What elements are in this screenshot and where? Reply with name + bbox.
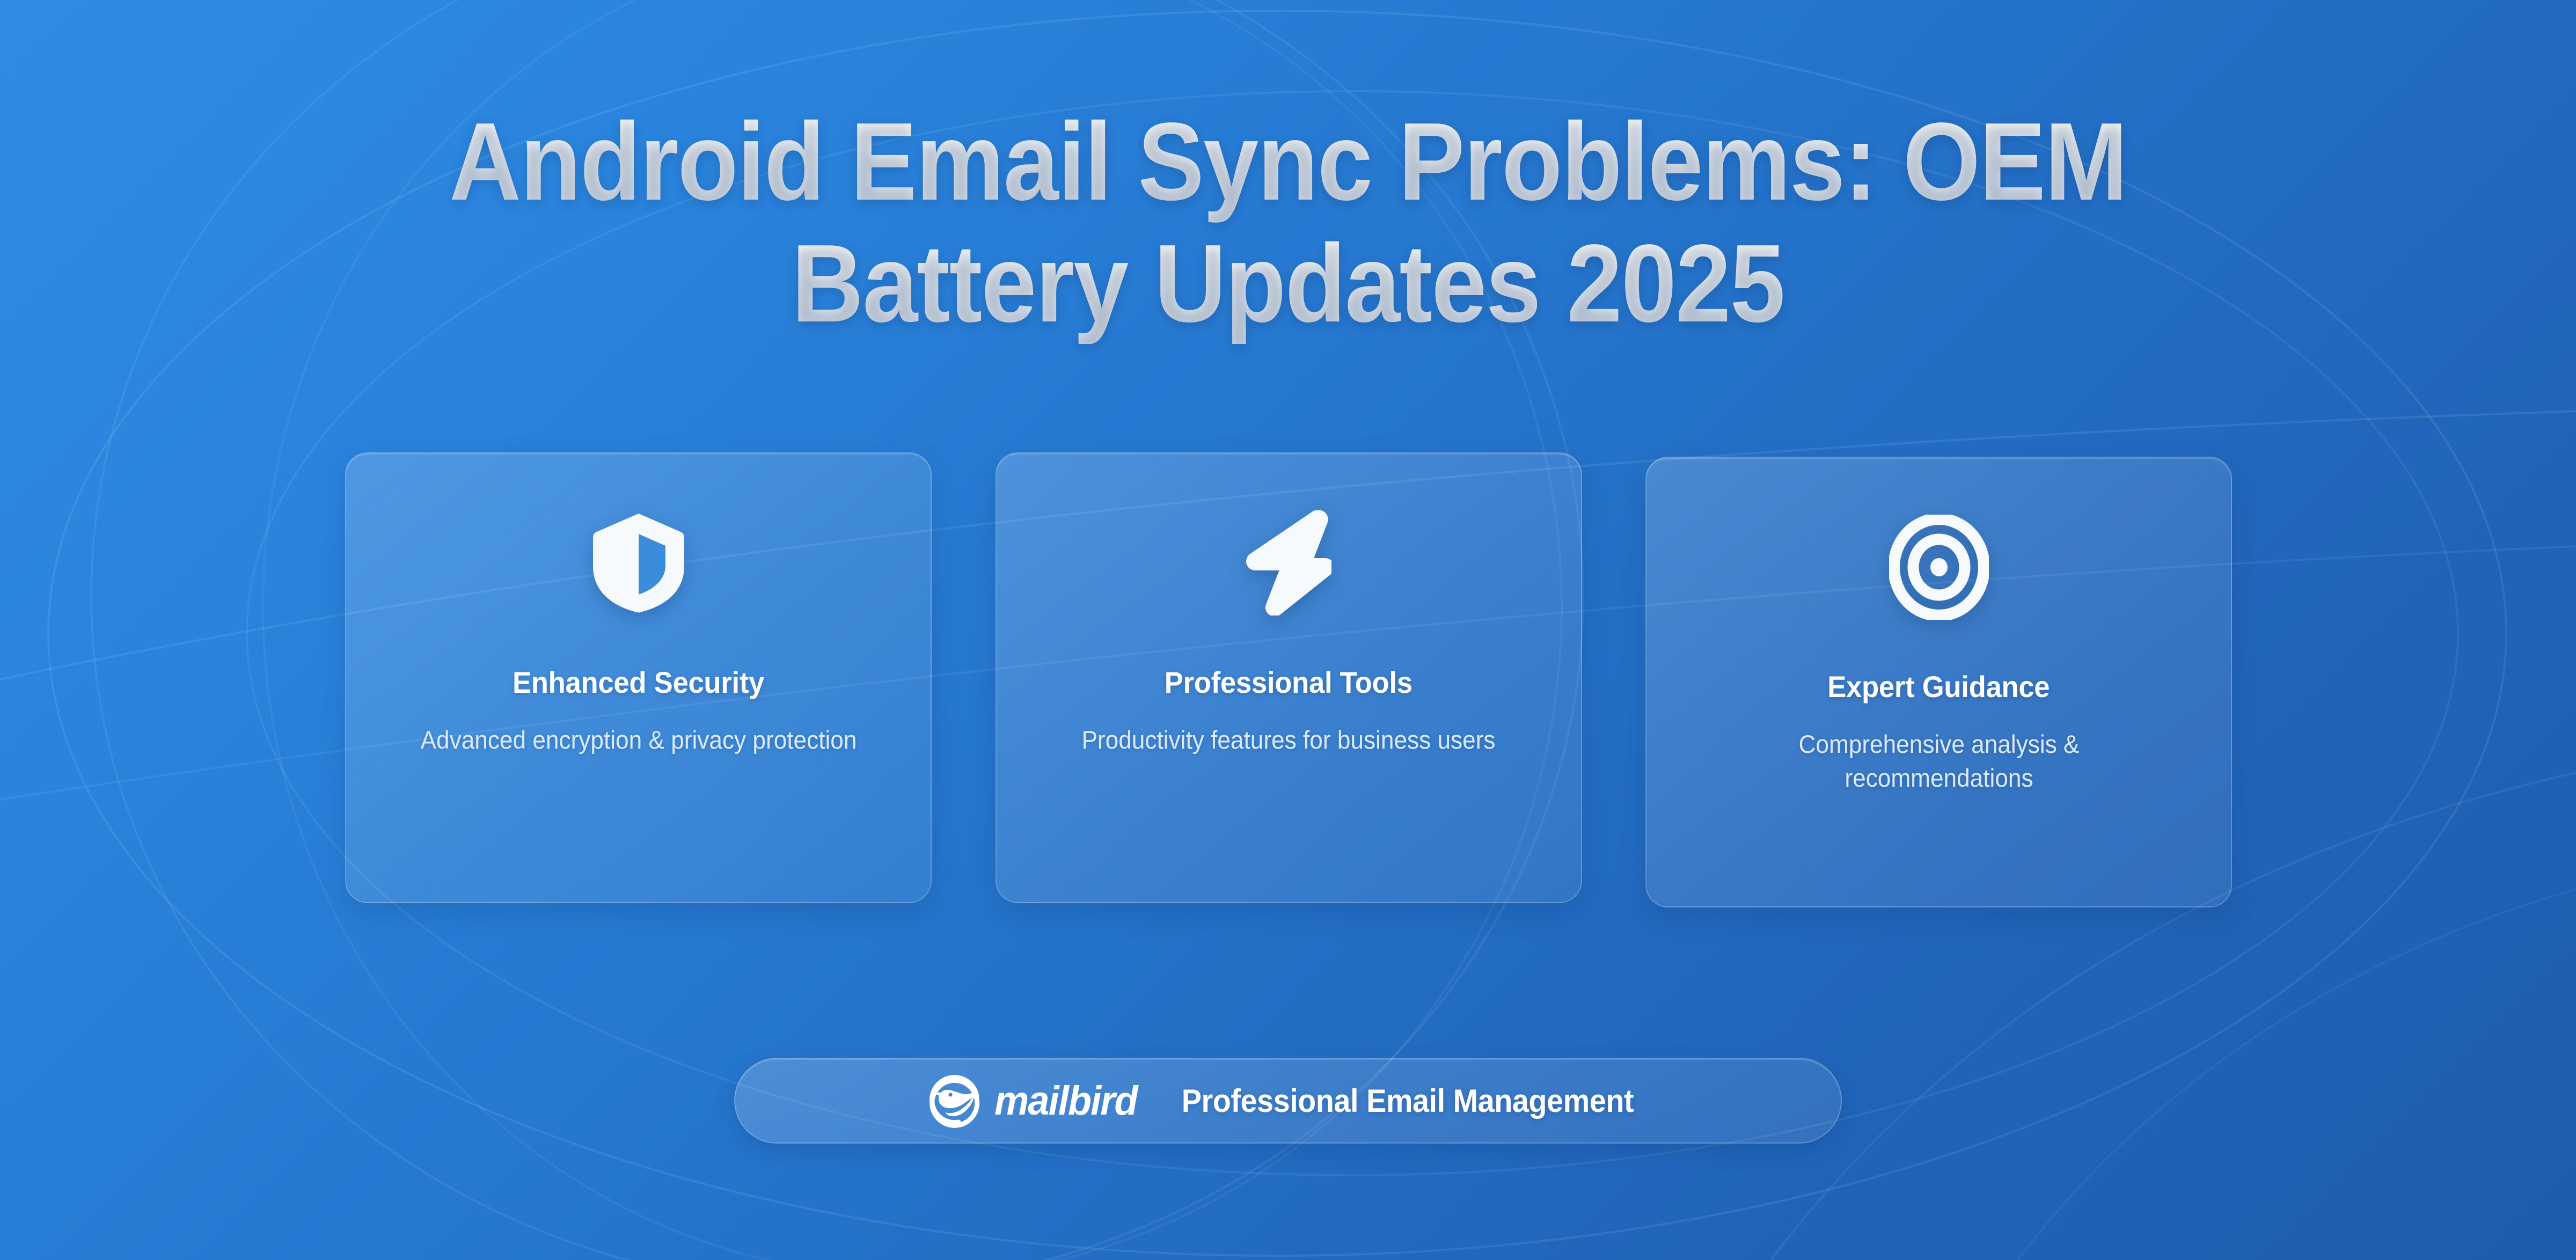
mailbird-wordmark: mailbird xyxy=(994,1078,1137,1124)
brand-tagline: Professional Email Management xyxy=(1182,1082,1634,1119)
feature-card-description: Advanced encryption & privacy protection xyxy=(416,723,860,757)
hero-section: Android Email Sync Problems: OEM Battery… xyxy=(0,101,2576,344)
feature-card-list: Enhanced Security Advanced encryption & … xyxy=(345,452,2232,907)
mailbird-bird-logo-icon xyxy=(925,1071,985,1131)
page-title: Android Email Sync Problems: OEM Battery… xyxy=(0,101,2576,344)
mailbird-logo: mailbird xyxy=(925,1071,1141,1131)
brand-badge[interactable]: mailbird Professional Email Management xyxy=(734,1058,1842,1144)
lightning-bolt-icon xyxy=(1246,510,1331,616)
feature-card-title: Enhanced Security xyxy=(513,665,764,700)
feature-card-professional-tools[interactable]: Professional Tools Productivity features… xyxy=(996,452,1582,903)
feature-card-title: Expert Guidance xyxy=(1827,669,2050,704)
feature-card-title: Professional Tools xyxy=(1165,665,1413,700)
feature-card-expert-guidance[interactable]: Expert Guidance Comprehensive analysis &… xyxy=(1645,457,2232,907)
feature-card-enhanced-security[interactable]: Enhanced Security Advanced encryption & … xyxy=(345,452,932,903)
feature-card-description: Comprehensive analysis & recommendations xyxy=(1717,728,2161,795)
shield-icon xyxy=(591,510,686,616)
page-title-line-2: Battery Updates 2025 xyxy=(129,223,2447,345)
feature-card-description: Productivity features for business users xyxy=(1066,723,1510,757)
page-title-line-1: Android Email Sync Problems: OEM xyxy=(129,101,2447,223)
target-icon xyxy=(1889,515,1989,620)
